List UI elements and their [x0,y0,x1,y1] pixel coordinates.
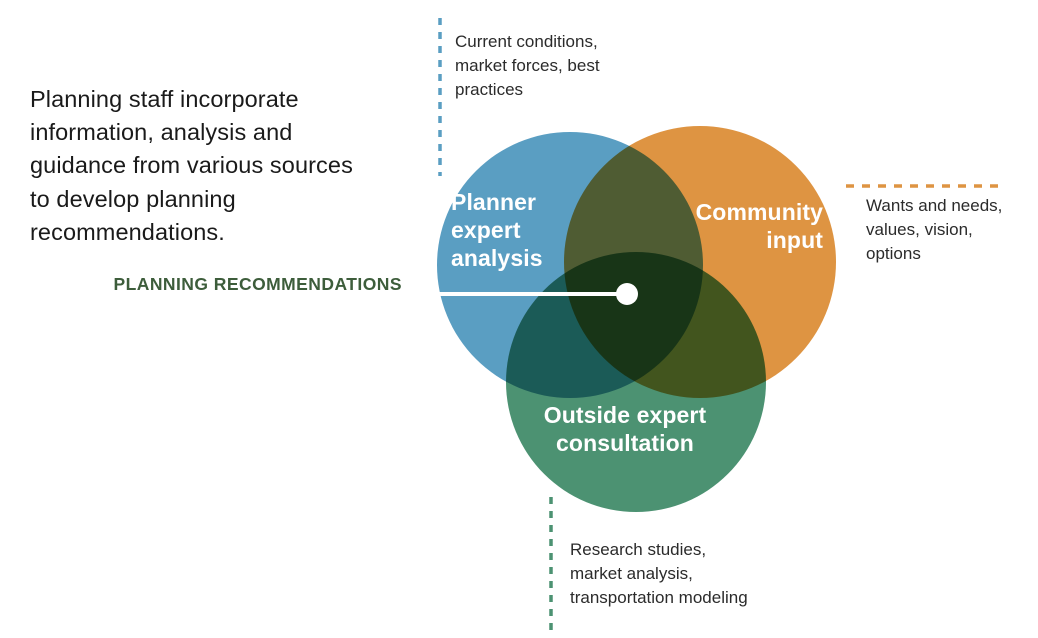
diagram-canvas: Planning staff incorporate information, … [0,0,1038,638]
callout-bottom-text: Research studies, market analysis, trans… [570,538,750,610]
callout-right-text: Wants and needs, values, vision, options [866,194,1006,266]
venn-label-outside: Outside expert consultation [518,401,732,457]
planning-recommendations-label: PLANNING RECOMMENDATIONS [110,273,402,296]
venn-label-planner: Planner expert analysis [451,188,611,272]
leader-dot [616,283,638,305]
venn-label-community: Community input [648,198,823,254]
callout-top-text: Current conditions, market forces, best … [455,30,645,102]
